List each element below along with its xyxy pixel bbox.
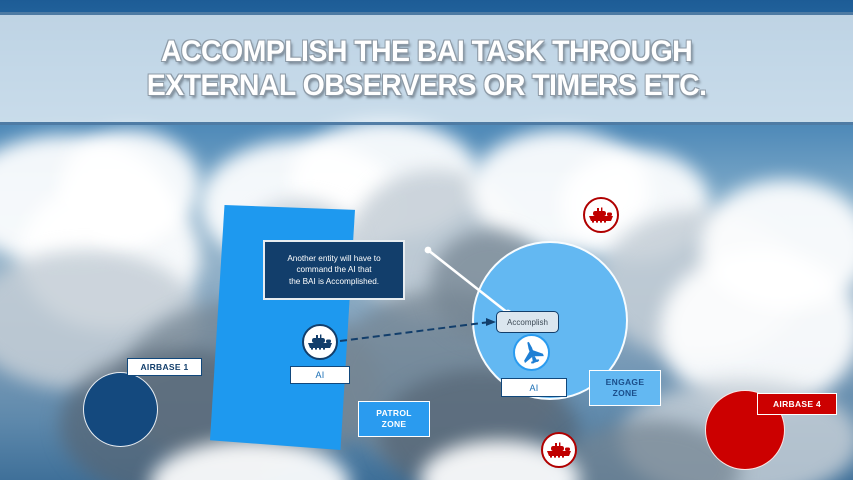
callout-line-3: the BAI is Accomplished. [287, 276, 380, 288]
ship-icon[interactable] [302, 324, 338, 360]
header-band [0, 12, 853, 125]
airbase-1-label[interactable]: AIRBASE 1 [127, 358, 202, 376]
callout-box: Another entity will have to command the … [263, 240, 405, 300]
patrol-zone-label-line-1: PATROL [376, 408, 411, 419]
callout-line-2: command the AI that [287, 264, 380, 276]
callout-line-1: Another entity will have to [287, 253, 380, 265]
airbase-1-marker[interactable] [83, 372, 158, 447]
airbase-4-label[interactable]: AIRBASE 4 [757, 393, 837, 415]
patrol-zone-label[interactable]: PATROL ZONE [358, 401, 430, 437]
ai-label-ship[interactable]: AI [290, 366, 350, 384]
enemy-vehicle-icon-glyph [588, 207, 614, 223]
fighter-jet-icon-glyph [519, 340, 545, 366]
engage-zone-label-line-2: ZONE [613, 388, 638, 399]
ai-label-jet[interactable]: AI [501, 378, 567, 397]
ship-icon-glyph [307, 334, 333, 350]
callout-text: Another entity will have to command the … [281, 253, 386, 288]
engage-zone-label[interactable]: ENGAGE ZONE [589, 370, 661, 406]
enemy-vehicle-icon[interactable] [541, 432, 577, 468]
fighter-jet-icon[interactable] [513, 334, 550, 371]
engage-zone-label-line-1: ENGAGE [606, 377, 645, 388]
enemy-vehicle-icon-glyph [546, 442, 572, 458]
accomplish-task-node[interactable]: Accomplish [496, 311, 559, 333]
enemy-vehicle-icon[interactable] [583, 197, 619, 233]
patrol-zone-label-line-2: ZONE [382, 419, 407, 430]
slide-canvas: ACCOMPLISH THE BAI TASK THROUGH EXTERNAL… [0, 0, 853, 480]
